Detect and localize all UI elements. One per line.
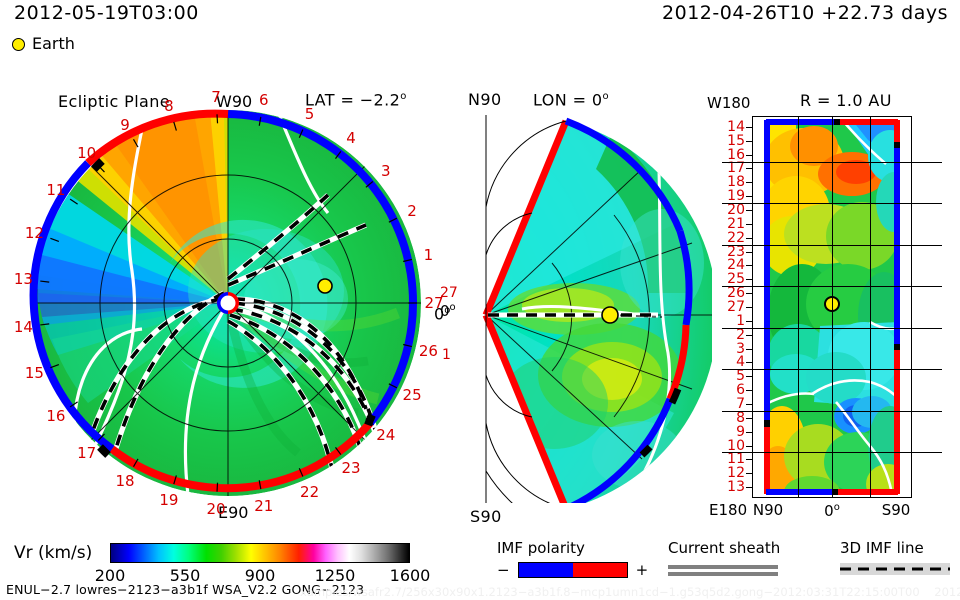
au-y-tick-mark xyxy=(746,265,752,266)
ecliptic-rim-label-22: 22 xyxy=(300,483,319,501)
au-y-tick-mark xyxy=(746,252,752,253)
colorbar-gradient xyxy=(110,543,410,563)
timestamp-run-offset: 2012-04-26T10 +22.73 days xyxy=(662,4,948,23)
imf-polarity-title: IMF polarity xyxy=(497,541,648,556)
meridional-left-day-27: 27 xyxy=(440,286,458,300)
ecliptic-rim-label-3: 3 xyxy=(381,162,391,180)
imf-polarity-swatch xyxy=(518,562,628,578)
au-y-tick-mark xyxy=(746,155,752,156)
au-y-tick-mark xyxy=(746,168,752,169)
ecliptic-rim-label-12: 12 xyxy=(25,224,44,242)
au-x-tick-0: 0o xyxy=(824,503,840,519)
au-y-tick-mark xyxy=(746,224,752,225)
au-y-tick-mark xyxy=(746,321,752,322)
au-y-tick-mark xyxy=(746,141,752,142)
meridional-plane-plot xyxy=(462,103,712,503)
au-x-tick-S90: S90 xyxy=(882,503,911,518)
earth-marker-icon xyxy=(12,38,25,51)
au-gridline-vertical xyxy=(798,116,799,498)
ecliptic-rim-label-13: 13 xyxy=(14,270,33,288)
au-y-tick-mark xyxy=(746,376,752,377)
au-y-tick-mark xyxy=(746,349,752,350)
timestamp-current: 2012-05-19T03:00 xyxy=(14,4,199,23)
imf-positive-swatch xyxy=(573,563,627,577)
au-y-tick-mark xyxy=(746,459,752,460)
au-y-tick-mark xyxy=(746,196,752,197)
imf-negative-swatch xyxy=(519,563,573,577)
au-y-tick-mark xyxy=(746,279,752,280)
ecliptic-rim-label-25: 25 xyxy=(403,386,422,404)
footer-watermark: xamples/wsafr2.7/256x30x90x1.2123−a3b1f.… xyxy=(300,585,960,599)
current-sheath-title: Current sheath xyxy=(668,541,780,556)
au-y-tick-mark xyxy=(746,127,752,128)
au-gridline-vertical xyxy=(832,116,833,498)
meridional-left-zero-label: 0o xyxy=(440,303,456,319)
ecliptic-rim-label-10: 10 xyxy=(77,144,96,162)
current-sheath-legend: Current sheath xyxy=(668,541,780,576)
earth-marker xyxy=(318,279,332,293)
au-bottom-left-label: E180 xyxy=(709,503,747,518)
earth-legend: Earth xyxy=(12,36,75,52)
current-sheath-line-1 xyxy=(668,565,778,569)
earth-marker-meridional xyxy=(602,307,618,323)
colorbar-label: Vr (km/s) xyxy=(14,545,92,562)
ecliptic-rim-label-19: 19 xyxy=(159,491,178,509)
imf-minus-label: − xyxy=(497,563,510,578)
earth-legend-label: Earth xyxy=(32,36,75,52)
ecliptic-rim-label-1: 1 xyxy=(424,246,434,264)
ecliptic-rim-label-6: 6 xyxy=(259,91,269,109)
ecliptic-rim-label-14: 14 xyxy=(14,318,33,336)
au-y-tick-mark xyxy=(746,238,752,239)
au-corner-label: W180 xyxy=(707,96,750,111)
ecliptic-rim-label-17: 17 xyxy=(77,444,96,462)
ecliptic-rim-label-16: 16 xyxy=(46,407,65,425)
au-y-tick-mark xyxy=(746,307,752,308)
meridional-left-day-1: 1 xyxy=(442,348,451,362)
ecliptic-rim-label-7: 7 xyxy=(211,88,221,106)
colorbar xyxy=(110,543,410,563)
imf-plus-label: + xyxy=(636,563,649,578)
meridional-south-label: S90 xyxy=(470,509,502,525)
au-y-tick-mark xyxy=(746,432,752,433)
current-sheath-line-2 xyxy=(668,572,778,576)
ecliptic-rim-label-15: 15 xyxy=(25,364,44,382)
meridional-heatmap xyxy=(462,103,712,503)
imf-3d-line-swatch xyxy=(840,563,950,575)
imf-3d-line-title: 3D IMF line xyxy=(840,541,950,556)
au-y-tick-mark xyxy=(746,362,752,363)
ecliptic-rim-label-5: 5 xyxy=(305,105,315,123)
ecliptic-rim-label-9: 9 xyxy=(120,116,130,134)
au-y-tick-mark xyxy=(746,390,752,391)
imf-polarity-legend: IMF polarity − + xyxy=(497,541,648,578)
au-y-tick-13: 13 xyxy=(727,479,745,495)
ecliptic-rim-label-24: 24 xyxy=(376,426,395,444)
au-y-tick-mark xyxy=(746,293,752,294)
ecliptic-rim-label-18: 18 xyxy=(115,472,134,490)
ecliptic-rim-label-26: 26 xyxy=(419,342,438,360)
imf-3d-line-legend: 3D IMF line xyxy=(840,541,950,575)
ecliptic-rim-label-2: 2 xyxy=(407,202,417,220)
ecliptic-rim-label-11: 11 xyxy=(46,181,65,199)
au-gridline-vertical xyxy=(870,116,871,498)
au-y-tick-mark xyxy=(746,473,752,474)
ecliptic-plane-plot: 1234567891011121314151617181920212223242… xyxy=(28,103,428,503)
ecliptic-rim-label-4: 4 xyxy=(346,129,356,147)
au-map-plot: 1415161718192021222324252627123456789101… xyxy=(752,116,912,498)
ecliptic-rim-label-21: 21 xyxy=(254,497,273,515)
au-y-tick-mark xyxy=(746,335,752,336)
ecliptic-rim-label-23: 23 xyxy=(341,459,360,477)
au-y-tick-mark xyxy=(746,446,752,447)
au-y-tick-mark xyxy=(746,404,752,405)
au-y-tick-mark xyxy=(746,418,752,419)
au-y-tick-mark xyxy=(746,210,752,211)
ecliptic-rim-label-20: 20 xyxy=(206,500,225,518)
ecliptic-rim-label-8: 8 xyxy=(164,97,174,115)
au-y-tick-mark xyxy=(746,487,752,488)
au-y-tick-mark xyxy=(746,182,752,183)
au-panel-title: R = 1.0 AU xyxy=(800,93,892,109)
au-x-tick-N90: N90 xyxy=(753,503,783,518)
colorbar-tick-1600: 1600 xyxy=(390,566,431,585)
